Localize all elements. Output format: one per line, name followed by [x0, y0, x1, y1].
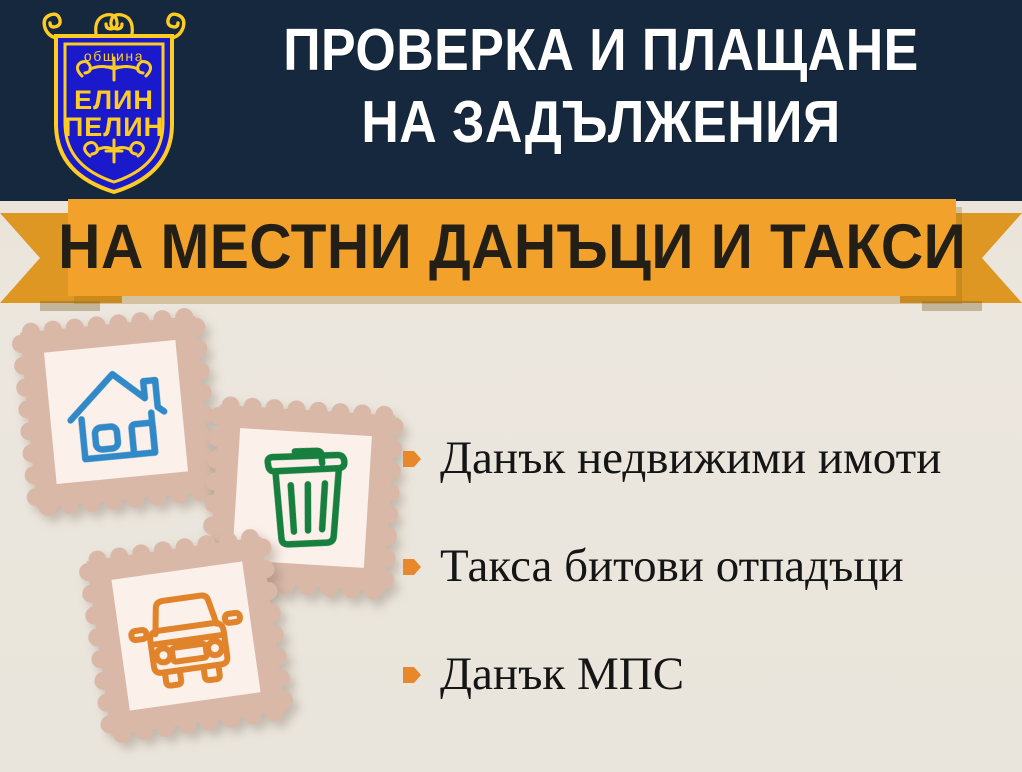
arrow-bullet-icon — [402, 448, 422, 470]
title-line-2: НА ЗАДЪЛЖЕНИЯ — [245, 86, 958, 158]
list-item: Данък недвижими имоти — [402, 424, 1017, 492]
poster-root: община ЕЛИН ПЕЛИН ПРОВЕ — [0, 0, 1022, 772]
list-item: Такса битови отпадъци — [402, 532, 1017, 600]
title-line-1: ПРОВЕРКА И ПЛАЩАНЕ — [245, 14, 958, 86]
ribbon-label: НА МЕСТНИ ДАНЪЦИ И ТАКСИ — [58, 216, 966, 279]
municipality-emblem: община ЕЛИН ПЕЛИН — [34, 6, 194, 196]
card-vehicle — [75, 525, 296, 746]
ribbon-center-panel: НА МЕСТНИ ДАНЪЦИ И ТАКСИ — [68, 199, 956, 296]
list-item-label: Данък недвижими имоти — [440, 430, 941, 486]
arrow-bullet-icon — [402, 664, 422, 686]
emblem-line-big-2: ПЕЛИН — [64, 112, 164, 142]
icon-cards-group — [0, 300, 420, 772]
ribbon-banner: НА МЕСТНИ ДАНЪЦИ И ТАКСИ — [0, 199, 1022, 309]
page-title: ПРОВЕРКА И ПЛАЩАНЕ НА ЗАДЪЛЖЕНИЯ — [196, 14, 1006, 158]
list-item: Данък МПС — [402, 640, 1017, 708]
ribbon-shadow-left — [40, 301, 100, 311]
card-property — [9, 305, 223, 519]
arrow-bullet-icon — [402, 556, 422, 578]
tax-type-list: Данък недвижими имоти Такса битови отпад… — [402, 424, 1017, 748]
ribbon-shadow-right — [922, 301, 982, 311]
list-item-label: Данък МПС — [440, 646, 684, 702]
list-item-label: Такса битови отпадъци — [440, 538, 904, 594]
emblem-line-big-1: ЕЛИН — [74, 85, 154, 115]
